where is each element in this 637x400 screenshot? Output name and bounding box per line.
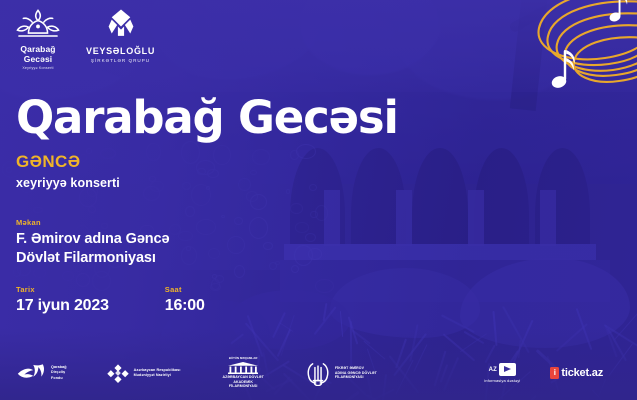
logo-fikret-emirov-filarmoniyasi[interactable]: FİKRƏT ƏMİROV ADINA GƏNCƏ DÖVLƏT FİLARMO…	[306, 360, 377, 386]
logo-text-line-3: FİLARMONİYASI	[222, 384, 263, 389]
date-value: 17 iyun 2023	[16, 297, 109, 315]
header-logos: Qarabağ Gecəsi Xeyriyyə Konserti VEYSƏLO…	[16, 8, 155, 70]
logo-text-line-0: BÜTÜN MƏQAMLAR	[229, 357, 258, 361]
gold-music-staff-swirl	[493, 0, 637, 124]
date-block: Tarix 17 iyun 2023	[16, 285, 109, 315]
qarabag-dircelis-fondu-bird-icon	[16, 362, 46, 384]
iticket-badge-icon: i	[550, 367, 559, 379]
filarmoniya-building-icon	[228, 362, 258, 374]
logo-iticket[interactable]: i ticket.az	[550, 367, 603, 379]
logo-medeniyyet-nazirliyi[interactable]: Azərbaycan Respublikası Mədəniyyət Nazir…	[107, 363, 181, 383]
tv-play-icon	[499, 363, 516, 376]
footer-logos: Qarabağ Dirçəliş Fondu Azərbaycan Respub…	[0, 346, 637, 400]
logo-fondu-text: Qarabağ Dirçəliş Fondu	[51, 365, 67, 381]
logo-filarmoniya-text: AZƏRBAYCAN DÖVLƏT AKADEMİK FİLARMONİYASI	[222, 375, 263, 390]
logo-qarabag-gecesi-sub: Xeyriyyə Konserti	[22, 66, 53, 70]
logo-text-line-3: Fondu	[51, 376, 67, 381]
logo-name-line-2: Gecəsi	[20, 55, 55, 65]
venue-name: F. Əmirov adına Gəncə Dövlət Filarmoniya…	[16, 230, 398, 267]
aztv-caption: informasiya dəstəyi	[484, 378, 520, 383]
qarabag-gecesi-emblem-icon	[16, 8, 60, 42]
logo-fikret-emirov-text: FİKRƏT ƏMİROV ADINA GƏNCƏ DÖVLƏT FİLARMO…	[335, 366, 377, 381]
logo-text-line-3: FİLARMONİYASI	[335, 375, 377, 380]
aztv-mark: AZ	[489, 363, 516, 376]
event-meta: Tarix 17 iyun 2023 Saat 16:00	[16, 285, 398, 315]
event-subtitle: xeyriyyə konserti	[16, 176, 398, 190]
poster-content: Qarabağ Gecəsi GƏNCƏ xeyriyyə konserti M…	[16, 96, 398, 315]
logo-qarabag-gecesi[interactable]: Qarabağ Gecəsi Xeyriyyə Konserti	[16, 8, 60, 70]
aztv-label: AZ	[489, 367, 497, 373]
date-label: Tarix	[16, 285, 109, 294]
time-block: Saat 16:00	[165, 285, 205, 315]
lyre-icon	[306, 360, 330, 386]
logo-aztv[interactable]: AZ informasiya dəstəyi	[484, 363, 520, 383]
time-value: 16:00	[165, 297, 205, 315]
logo-text-line-1: AZƏRBAYCAN DÖVLƏT	[222, 375, 263, 380]
logo-qarabag-dircelis-fondu[interactable]: Qarabağ Dirçəliş Fondu	[16, 362, 67, 384]
logo-veyseloglu-name: VEYSƏLOĞLU	[86, 46, 155, 56]
city-label: GƏNCƏ	[16, 152, 398, 172]
veyseloglu-diamond-icon	[104, 8, 138, 42]
medeniyyet-nazirliyi-ornament-icon	[107, 363, 129, 383]
logo-qarabag-gecesi-name: Qarabağ Gecəsi	[20, 45, 55, 64]
iticket-name: ticket.az	[561, 367, 603, 379]
time-label: Saat	[165, 285, 205, 294]
event-poster: Qarabağ Gecəsi Xeyriyyə Konserti VEYSƏLO…	[0, 0, 637, 400]
logo-text-line-2: Mədəniyyət Nazirliyi	[134, 373, 181, 378]
page-title: Qarabağ Gecəsi	[16, 96, 398, 140]
venue-block: Məkan F. Əmirov adına Gəncə Dövlət Filar…	[16, 218, 398, 267]
venue-label: Məkan	[16, 218, 398, 227]
logo-text-line-2: Dirçəliş	[51, 370, 67, 375]
logo-veyseloglu[interactable]: VEYSƏLOĞLU ŞİRKƏTLƏR QRUPU	[86, 8, 155, 63]
venue-name-line-2: Dövlət Filarmoniyası	[16, 249, 398, 268]
logo-nazirliyi-text: Azərbaycan Respublikası Mədəniyyət Nazir…	[134, 368, 181, 379]
logo-veyseloglu-sub: ŞİRKƏTLƏR QRUPU	[91, 58, 150, 63]
venue-name-line-1: F. Əmirov adına Gəncə	[16, 230, 398, 249]
logo-azerbaycan-dovlet-filarmoniyasi[interactable]: BÜTÜN MƏQAMLAR AZƏRBAYCAN DÖVLƏT AKADEMİ…	[222, 357, 263, 390]
